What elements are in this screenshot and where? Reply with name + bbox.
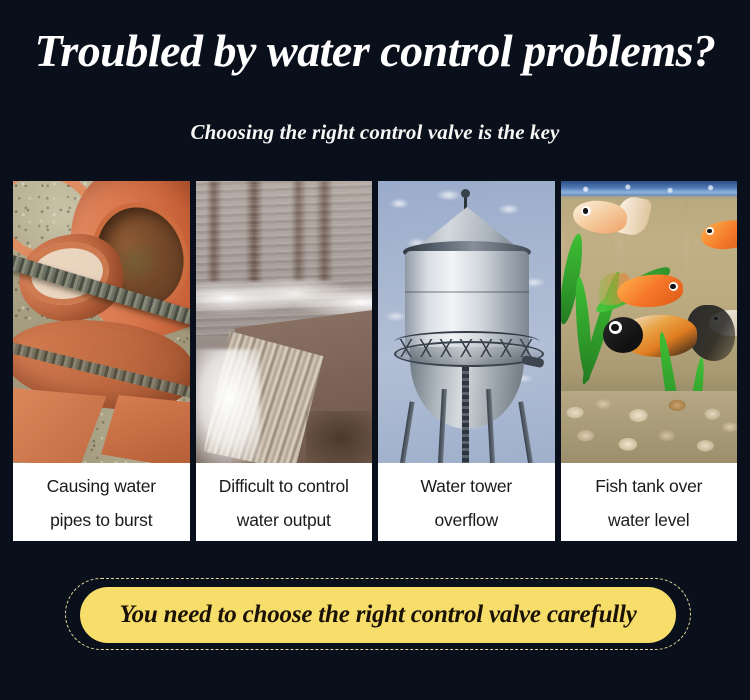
shadow-corner xyxy=(306,411,372,463)
fish-body xyxy=(699,218,737,251)
promo-banner-page: { "header": { "title": "Troubled by wate… xyxy=(0,0,750,700)
fish-eye xyxy=(609,321,622,334)
fish-eye xyxy=(581,206,591,216)
caption-line-2: water level xyxy=(561,503,738,537)
water-tower-photo xyxy=(378,181,555,463)
overflowing-muddy-water-photo xyxy=(196,181,373,463)
tower-catwalk-bracing xyxy=(396,339,538,357)
caption-line-1: Fish tank over xyxy=(561,469,738,503)
panel-caption: Water tower overflow xyxy=(378,463,555,541)
fish-tank-photo xyxy=(561,181,738,463)
cta-label: You need to choose the right control val… xyxy=(119,601,636,629)
page-subtitle: Choosing the right control valve is the … xyxy=(0,120,750,145)
panel-caption: Fish tank over water level xyxy=(561,463,738,541)
goldfish-orange-right xyxy=(701,219,738,253)
tower-standpipe xyxy=(462,367,469,463)
aquarium-gravel xyxy=(561,391,738,463)
page-title: Troubled by water control problems? xyxy=(0,24,750,77)
panel-caption: Difficult to control water output xyxy=(196,463,373,541)
caption-line-1: Difficult to control xyxy=(196,469,373,503)
broken-clay-pipes-photo xyxy=(13,181,190,463)
problem-panel-grid: Causing water pipes to burst Difficult t… xyxy=(13,181,737,541)
water-spray xyxy=(196,349,260,463)
water-foam-line xyxy=(196,277,373,319)
fish-head xyxy=(603,317,643,353)
caption-line-2: overflow xyxy=(378,503,555,537)
caption-line-1: Water tower xyxy=(378,469,555,503)
problem-panel-fish-tank[interactable]: Fish tank over water level xyxy=(561,181,738,541)
cta-dashed-frame: You need to choose the right control val… xyxy=(65,578,691,650)
panel-caption: Causing water pipes to burst xyxy=(13,463,190,541)
fish-eye xyxy=(669,282,678,291)
problem-panel-water-tower[interactable]: Water tower overflow xyxy=(378,181,555,541)
caption-line-2: pipes to burst xyxy=(13,503,190,537)
cta-button[interactable]: You need to choose the right control val… xyxy=(80,587,676,643)
caption-line-2: water output xyxy=(196,503,373,537)
problem-panel-flood[interactable]: Difficult to control water output xyxy=(196,181,373,541)
fish-body xyxy=(571,197,629,236)
fish-eye xyxy=(706,227,714,235)
problem-panel-pipes[interactable]: Causing water pipes to burst xyxy=(13,181,190,541)
tank-water-surface xyxy=(561,181,738,196)
goldfish-pale xyxy=(573,197,645,237)
caption-line-1: Causing water xyxy=(13,469,190,503)
